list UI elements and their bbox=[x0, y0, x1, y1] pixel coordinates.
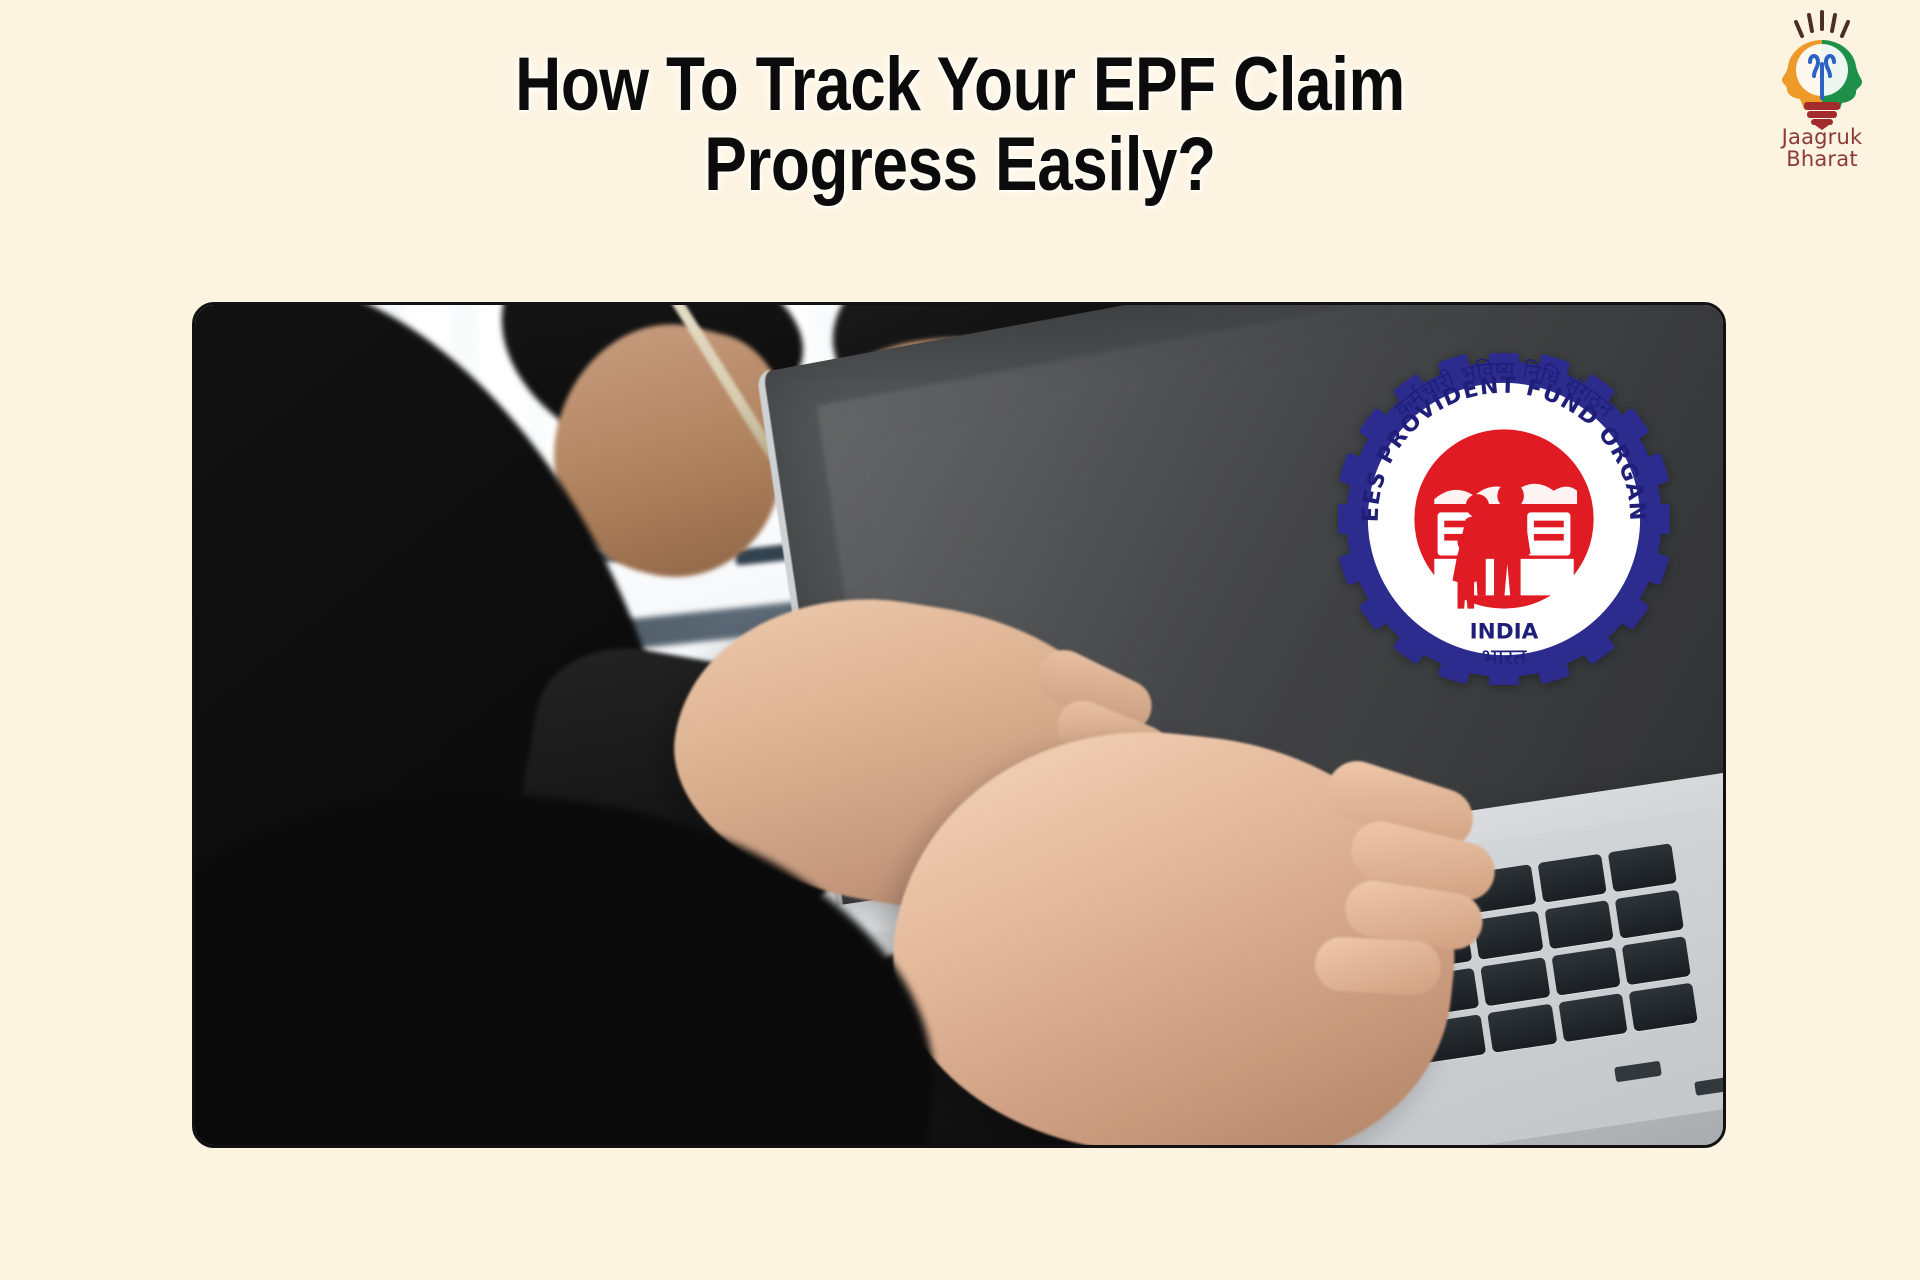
brand-name-line-2: Bharat bbox=[1786, 147, 1858, 171]
key bbox=[1544, 900, 1613, 949]
brand-logo[interactable]: Jaagruk Bharat bbox=[1752, 6, 1892, 182]
jaagruk-bharat-bulb-icon bbox=[1752, 6, 1892, 130]
key bbox=[1481, 957, 1550, 1006]
key bbox=[1615, 890, 1684, 939]
key bbox=[1558, 993, 1627, 1042]
page-title: How To Track Your EPF Claim Progress Eas… bbox=[0, 48, 1920, 203]
page-title-line-2: Progress Easily? bbox=[154, 128, 1767, 202]
key bbox=[1628, 983, 1697, 1032]
key bbox=[1621, 936, 1690, 985]
key bbox=[1608, 843, 1677, 892]
key bbox=[1474, 911, 1543, 960]
epfo-logo: EMPLOYEES PROVIDENT FUND ORGANISATION कर… bbox=[1338, 353, 1670, 685]
key bbox=[1537, 854, 1606, 903]
key bbox=[1488, 1004, 1557, 1053]
brand-name: Jaagruk Bharat bbox=[1752, 126, 1892, 170]
hero-image-card: EMPLOYEES PROVIDENT FUND ORGANISATION कर… bbox=[192, 302, 1726, 1148]
epfo-country-hindi: भारत bbox=[1481, 644, 1527, 671]
page-title-line-1: How To Track Your EPF Claim bbox=[154, 48, 1767, 122]
key bbox=[1551, 947, 1620, 996]
hero-photo: EMPLOYEES PROVIDENT FUND ORGANISATION कर… bbox=[195, 305, 1723, 1145]
epfo-country-english: INDIA bbox=[1470, 620, 1539, 645]
finger bbox=[1314, 936, 1443, 997]
